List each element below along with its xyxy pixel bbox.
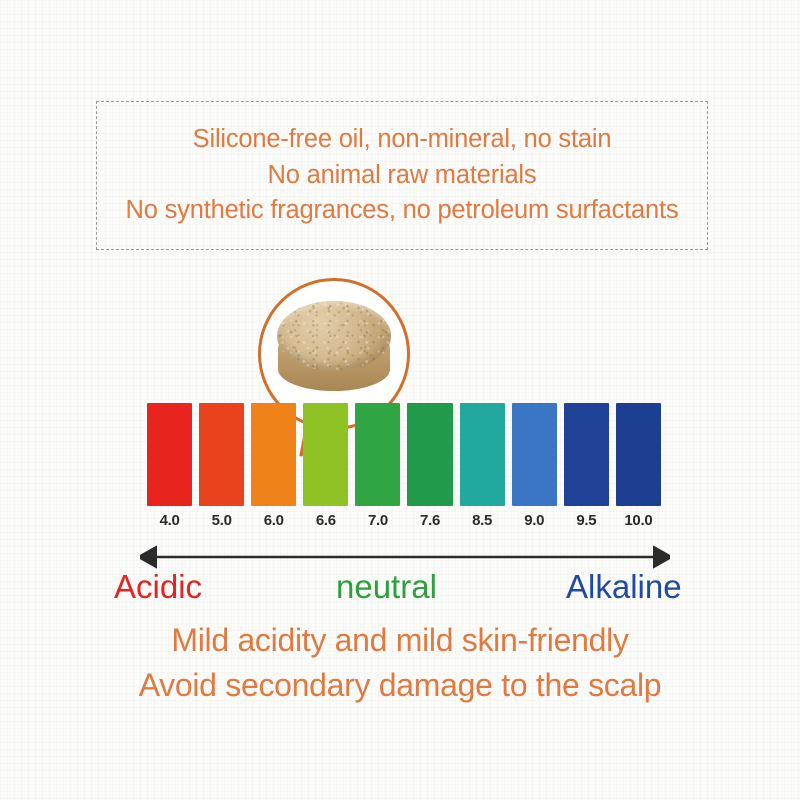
ph-bar-8.5 xyxy=(460,403,505,506)
shampoo-bar-product-image xyxy=(277,301,391,405)
ph-bar-4.0 xyxy=(147,403,192,506)
soap-bar-top xyxy=(277,301,391,371)
product-claims-box: Silicone-free oil, non-mineral, no stain… xyxy=(96,101,708,250)
ph-bar-5.0 xyxy=(199,403,244,506)
ph-scale-labels: 4.05.06.06.67.07.68.59.09.510.0 xyxy=(147,512,661,529)
tagline-line-1: Mild acidity and mild skin-friendly xyxy=(171,620,628,662)
ph-tick-label-10.0: 10.0 xyxy=(616,512,661,529)
ph-tick-label-6.0: 6.0 xyxy=(251,512,296,529)
ph-bar-10.0 xyxy=(616,403,661,506)
infographic-canvas: Silicone-free oil, non-mineral, no stain… xyxy=(0,0,800,800)
ph-tick-label-5.0: 5.0 xyxy=(199,512,244,529)
ph-tick-label-7.0: 7.0 xyxy=(355,512,400,529)
ph-tick-label-8.5: 8.5 xyxy=(460,512,505,529)
claim-line-2: No animal raw materials xyxy=(268,159,537,193)
bottom-tagline: Mild acidity and mild skin-friendly Avoi… xyxy=(0,620,800,706)
ph-bar-6.0 xyxy=(251,403,296,506)
ph-bar-7.6 xyxy=(407,403,452,506)
legend-label-acidic: Acidic xyxy=(114,564,202,610)
ph-tick-label-9.0: 9.0 xyxy=(512,512,557,529)
claim-line-1: Silicone-free oil, non-mineral, no stain xyxy=(193,123,612,157)
ph-tick-label-7.6: 7.6 xyxy=(407,512,452,529)
ph-tick-label-6.6: 6.6 xyxy=(303,512,348,529)
ph-bar-9.0 xyxy=(512,403,557,506)
claim-line-3: No synthetic fragrances, no petroleum su… xyxy=(126,194,679,228)
legend-label-neutral: neutral xyxy=(336,564,437,610)
soap-bar-texture xyxy=(277,301,391,371)
legend-label-alkaline: Alkaline xyxy=(566,564,682,610)
ph-tick-label-9.5: 9.5 xyxy=(564,512,609,529)
ph-bar-9.5 xyxy=(564,403,609,506)
ph-bar-7.0 xyxy=(355,403,400,506)
ph-scale-bars xyxy=(147,403,661,506)
ph-tick-label-4.0: 4.0 xyxy=(147,512,192,529)
ph-bar-6.6 xyxy=(303,403,348,506)
tagline-line-2: Avoid secondary damage to the scalp xyxy=(139,665,662,707)
ph-legend-row: Acidic neutral Alkaline xyxy=(96,564,712,610)
